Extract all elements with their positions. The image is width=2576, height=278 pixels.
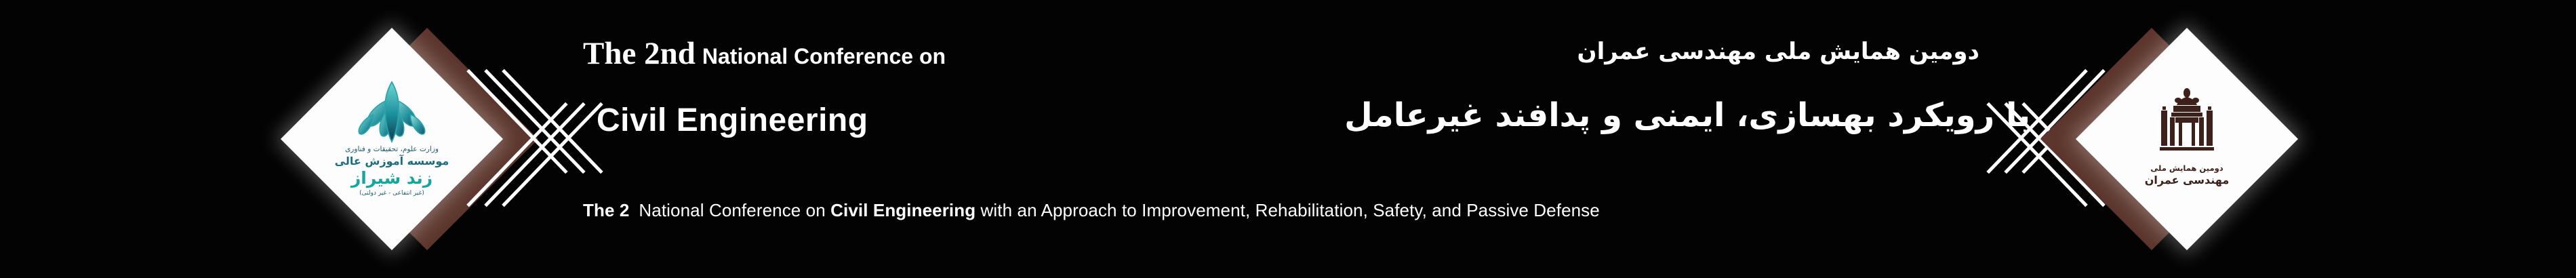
english-title-line: The 2ndNational Conference on (583, 35, 946, 72)
right-logo-group: دومین همایش ملی مهندسی عمران (1986, 0, 2461, 278)
left-logo-institution: موسسه آموزش عالی (335, 155, 449, 167)
english-title-rest: National Conference on (702, 44, 946, 68)
left-logo-note: (غیر انتفاعی - غیر دولتی) (359, 190, 424, 197)
tagline-bold: Civil Engineering (830, 200, 975, 220)
english-title-ordinal: The 2nd (583, 36, 696, 71)
left-logo-ministry: وزارت علوم، تحقیقات و فناوری (345, 145, 439, 153)
left-logo-group: وزارت علوم، تحقیقات و فناوری موسسه آموزش… (122, 0, 597, 278)
conference-banner: وزارت علوم، تحقیقات و فناوری موسسه آموزش… (0, 0, 2576, 278)
english-subject: Civil Engineering (597, 102, 868, 139)
tagline-tail: with an Approach to Improvement, Rehabil… (981, 200, 1600, 220)
right-logo-content: دومین همایش ملی مهندسی عمران (2108, 60, 2266, 218)
tagline-mid: National Conference on (639, 200, 825, 220)
left-logo-content: وزارت علوم، تحقیقات و فناوری موسسه آموزش… (313, 60, 470, 218)
persepolis-gate-emblem (2156, 87, 2218, 159)
english-tagline: The 2National Conference on Civil Engine… (583, 200, 1600, 221)
persian-title: دومین همایش ملی مهندسی عمران (1577, 38, 1979, 65)
tagline-lead: The 2 (583, 200, 629, 220)
right-logo-line-2: مهندسی عمران (2145, 174, 2229, 186)
persian-subtitle: با رویکرد بهسازی، ایمنی و پدافند غیرعامل (1344, 96, 2030, 134)
palmette-emblem (357, 81, 427, 143)
left-logo-city: زند شیراز (351, 168, 432, 188)
right-logo-line-1: دومین همایش ملی (2150, 163, 2223, 173)
